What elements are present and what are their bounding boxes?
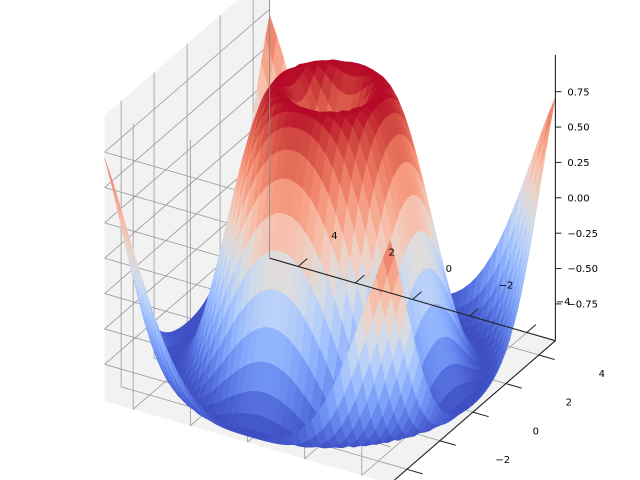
tick-label: 0.50 bbox=[567, 123, 589, 134]
tick-label: 0.25 bbox=[567, 158, 589, 169]
tick-label: 0.75 bbox=[567, 87, 589, 98]
tick-label: −0.50 bbox=[567, 264, 598, 275]
tick-label: 0.00 bbox=[567, 193, 589, 204]
tick-label: −2 bbox=[495, 455, 510, 466]
surface-plot-3d: −4−2024−4−2024−0.75−0.50−0.250.000.250.5… bbox=[0, 0, 640, 480]
tick-label: 4 bbox=[599, 369, 605, 380]
tick-label: −0.75 bbox=[567, 300, 598, 311]
tick-label: 4 bbox=[331, 231, 337, 242]
matplotlib-figure: −4−2024−4−2024−0.75−0.50−0.250.000.250.5… bbox=[0, 0, 640, 480]
tick-label: 0 bbox=[446, 264, 452, 275]
tick-label: −2 bbox=[499, 281, 514, 292]
tick-label: −0.25 bbox=[567, 229, 598, 240]
tick-label: 2 bbox=[388, 248, 394, 259]
tick-label: 0 bbox=[533, 426, 539, 437]
tick-label: 2 bbox=[566, 398, 572, 409]
